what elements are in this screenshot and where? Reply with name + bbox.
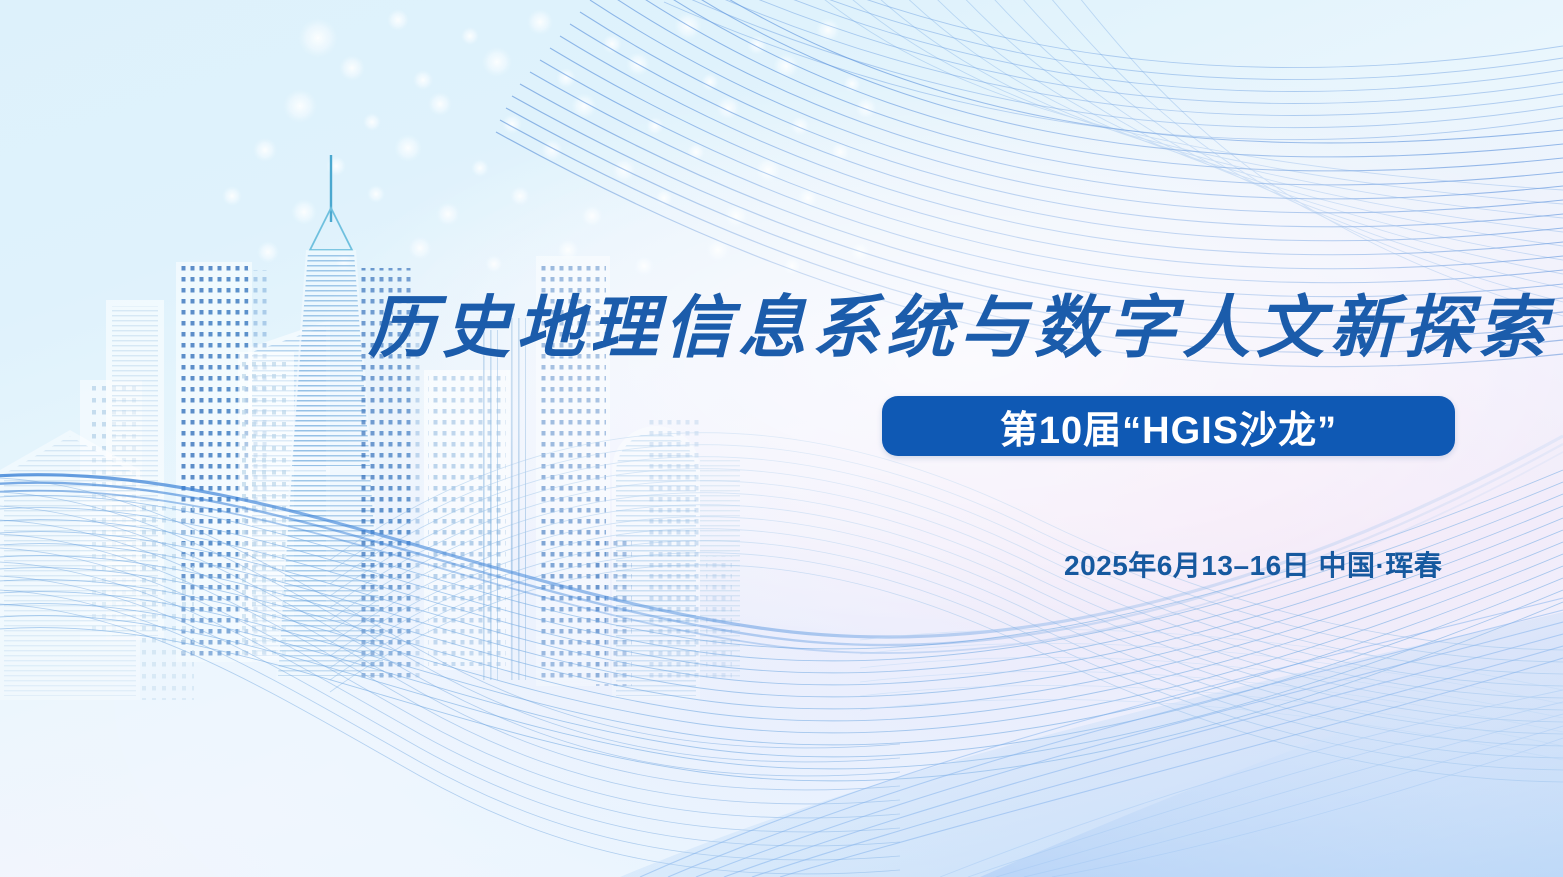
poster-canvas: 历史地理信息系统与数字人文新探索 第10届“HGIS沙龙” 2025年6月13–… [0,0,1563,877]
edition-banner: 第10届“HGIS沙龙” [882,396,1455,456]
page-title: 历史地理信息系统与数字人文新探索 [368,286,1468,370]
event-date-location: 2025年6月13–16日 中国·珲春 [1064,544,1442,584]
bokeh-dots-decoration [0,0,880,300]
edition-banner-label: 第10届“HGIS沙龙” [1000,399,1337,454]
